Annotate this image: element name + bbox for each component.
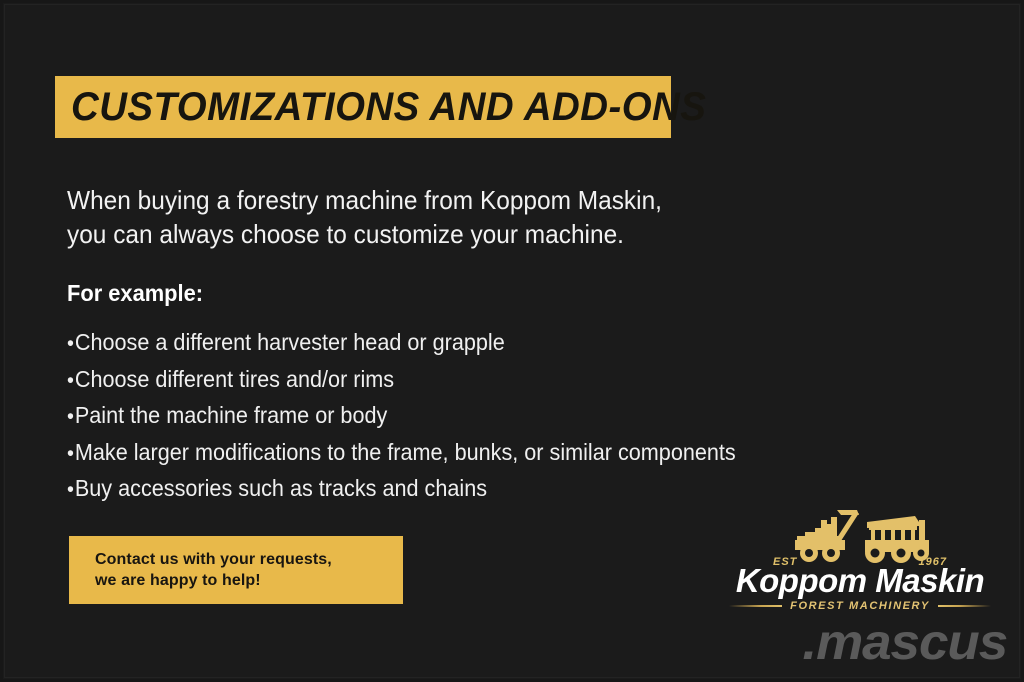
bullet-dot-icon: • — [67, 327, 74, 362]
list-item: • Choose different tires and/or rims — [67, 362, 819, 399]
list-item-label: Choose a different harvester head or gra… — [75, 325, 505, 360]
mascus-watermark: .mascus — [802, 613, 1007, 671]
koppom-maskin-logo: EST 1967 Koppom Maskin FOREST MACHINERY — [729, 506, 991, 614]
for-example-label: For example: — [67, 280, 203, 307]
intro-line-1: When buying a forestry machine from Kopp… — [67, 183, 781, 217]
header-banner: CUSTOMIZATIONS AND ADD-ONS — [55, 76, 671, 138]
logo-divider-right — [938, 605, 991, 607]
list-item: • Paint the machine frame or body — [67, 398, 819, 435]
list-item-label: Paint the machine frame or body — [75, 398, 387, 433]
bullet-dot-icon: • — [67, 437, 74, 472]
bullet-dot-icon: • — [67, 400, 74, 435]
page-title: CUSTOMIZATIONS AND ADD-ONS — [71, 85, 706, 130]
bullet-dot-icon: • — [67, 473, 74, 508]
customization-bullet-list: • Choose a different harvester head or g… — [67, 325, 867, 508]
contact-line-1: Contact us with your requests, — [95, 549, 403, 570]
intro-paragraph: When buying a forestry machine from Kopp… — [67, 183, 781, 251]
list-item-label: Choose different tires and/or rims — [75, 362, 394, 397]
list-item: • Choose a different harvester head or g… — [67, 325, 819, 362]
list-item-label: Buy accessories such as tracks and chain… — [75, 471, 487, 506]
list-item: • Buy accessories such as tracks and cha… — [67, 471, 819, 508]
promo-slide: CUSTOMIZATIONS AND ADD-ONS When buying a… — [0, 0, 1024, 682]
logo-divider-left — [729, 605, 782, 607]
contact-line-2: we are happy to help! — [95, 570, 403, 591]
contact-cta-box[interactable]: Contact us with your requests, we are ha… — [69, 536, 403, 604]
bullet-dot-icon: • — [67, 364, 74, 399]
logo-company-name: Koppom Maskin — [729, 562, 991, 600]
logo-subtitle: FOREST MACHINERY — [790, 600, 930, 612]
list-item: • Make larger modifications to the frame… — [67, 435, 819, 472]
logo-subtitle-row: FOREST MACHINERY — [729, 600, 991, 612]
list-item-label: Make larger modifications to the frame, … — [75, 435, 736, 470]
intro-line-2: you can always choose to customize your … — [67, 217, 781, 251]
